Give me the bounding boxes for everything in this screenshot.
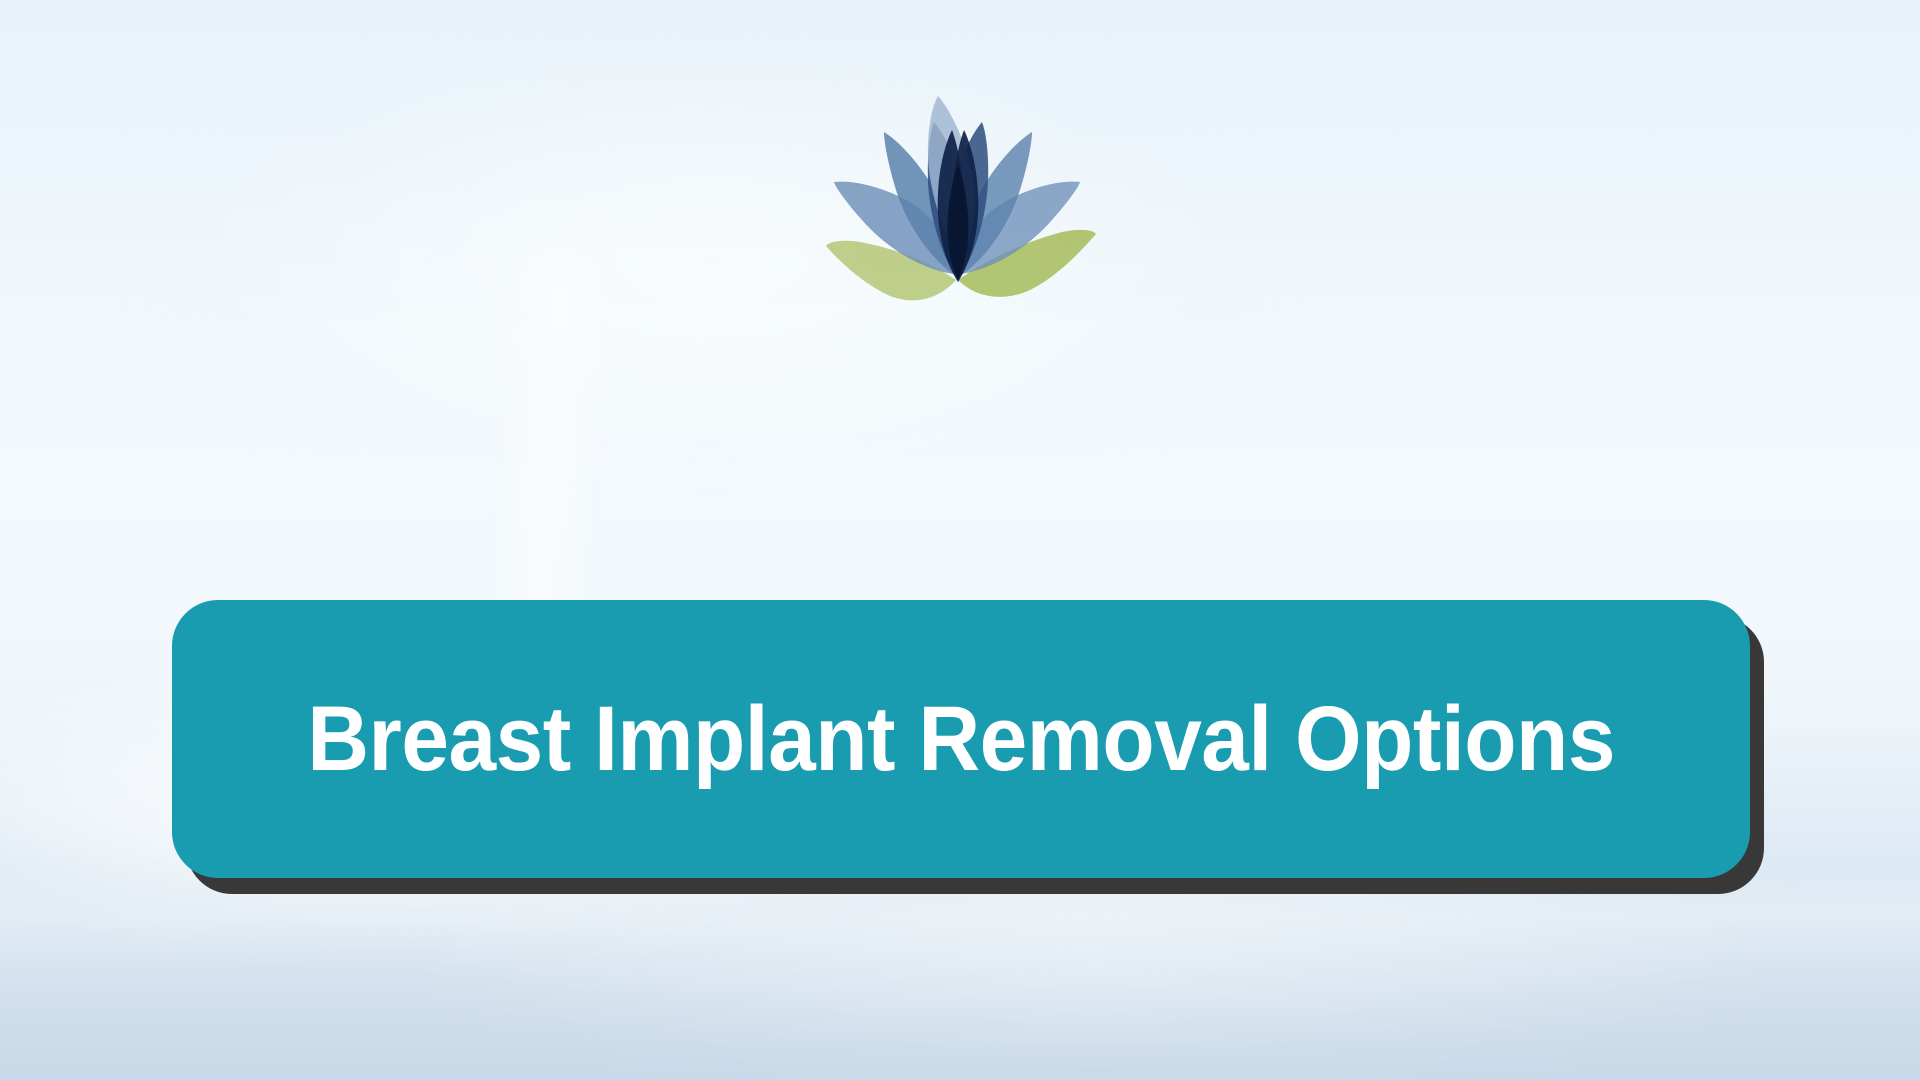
background-bottom-tint: [0, 864, 1920, 1080]
lotus-icon: [818, 84, 1098, 324]
lotus-flower-logo: [818, 84, 1098, 324]
title-button[interactable]: Breast Implant Removal Options: [172, 600, 1750, 878]
slide-canvas: Breast Implant Removal Options: [0, 0, 1920, 1080]
background-haze-top: [154, 22, 1268, 497]
title-button-label: Breast Implant Removal Options: [307, 693, 1615, 785]
